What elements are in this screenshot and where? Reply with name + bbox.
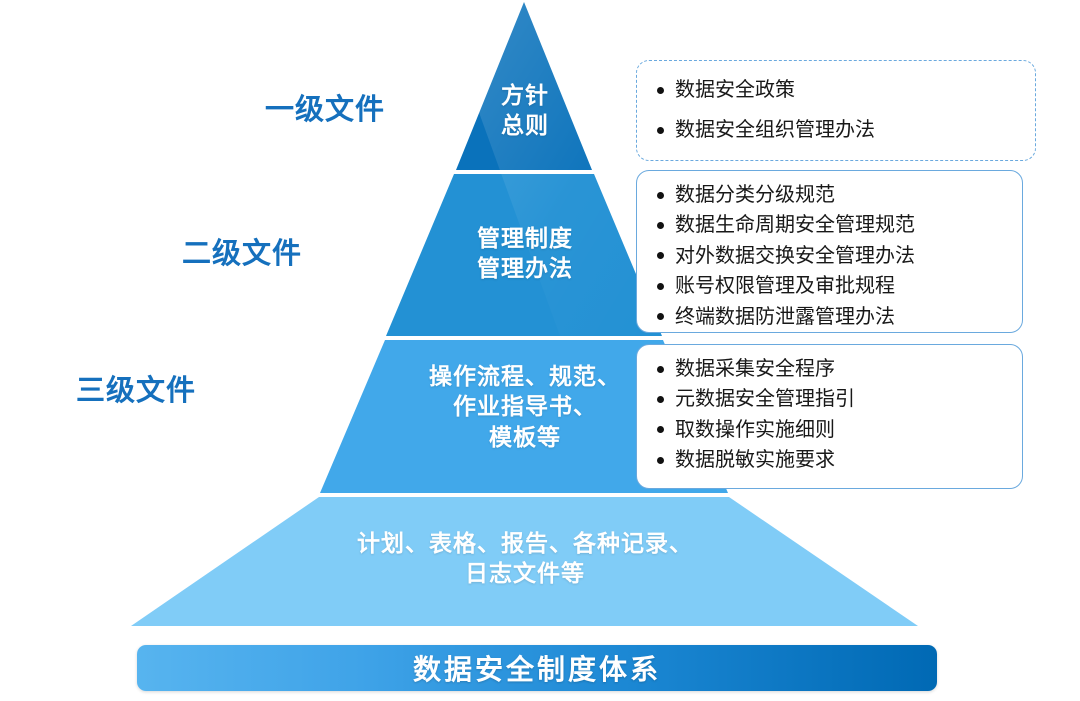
list-item: 数据脱敏实施要求 (653, 445, 1008, 475)
list-item: 数据分类分级规范 (653, 180, 1008, 210)
pyramid-layer-4-label: 计划、表格、报告、各种记录、 日志文件等 (290, 528, 760, 589)
list-item: 对外数据交换安全管理办法 (653, 241, 1008, 271)
list-item: 元数据安全管理指引 (653, 384, 1008, 414)
callout-procedure: 数据采集安全程序 元数据安全管理指引 取数操作实施细则 数据脱敏实施要求 (636, 344, 1023, 489)
callout-policy-list: 数据安全政策 数据安全组织管理办法 (653, 70, 1021, 150)
pyramid-layer-3-label: 操作流程、规范、 作业指导书、 模板等 (375, 361, 675, 452)
list-item: 账号权限管理及审批规程 (653, 271, 1008, 301)
pyramid-layer-1-label: 方针 总则 (455, 80, 595, 141)
list-item: 数据安全政策 (653, 70, 1021, 110)
tier-label-level-2: 二级文件 (182, 230, 302, 272)
list-item: 数据生命周期安全管理规范 (653, 210, 1008, 240)
diagram-canvas: 方针 总则 管理制度 管理办法 操作流程、规范、 作业指导书、 模板等 计划、表… (0, 0, 1080, 701)
callout-policy: 数据安全政策 数据安全组织管理办法 (636, 60, 1036, 161)
list-item: 取数操作实施细则 (653, 415, 1008, 445)
list-item: 数据采集安全程序 (653, 354, 1008, 384)
callout-management: 数据分类分级规范 数据生命周期安全管理规范 对外数据交换安全管理办法 账号权限管… (636, 170, 1023, 333)
callout-procedure-list: 数据采集安全程序 元数据安全管理指引 取数操作实施细则 数据脱敏实施要求 (653, 354, 1008, 476)
page-title: 数据安全制度体系 (413, 648, 661, 688)
tier-label-level-3: 三级文件 (76, 367, 196, 409)
list-item: 终端数据防泄露管理办法 (653, 302, 1008, 332)
pyramid-sheen (460, 2, 662, 336)
tier-label-level-1: 一级文件 (265, 86, 385, 128)
list-item: 数据安全组织管理办法 (653, 110, 1021, 150)
diagram-title-banner: 数据安全制度体系 (137, 645, 937, 691)
pyramid-layer-2-label: 管理制度 管理办法 (410, 223, 640, 284)
callout-management-list: 数据分类分级规范 数据生命周期安全管理规范 对外数据交换安全管理办法 账号权限管… (653, 180, 1008, 332)
